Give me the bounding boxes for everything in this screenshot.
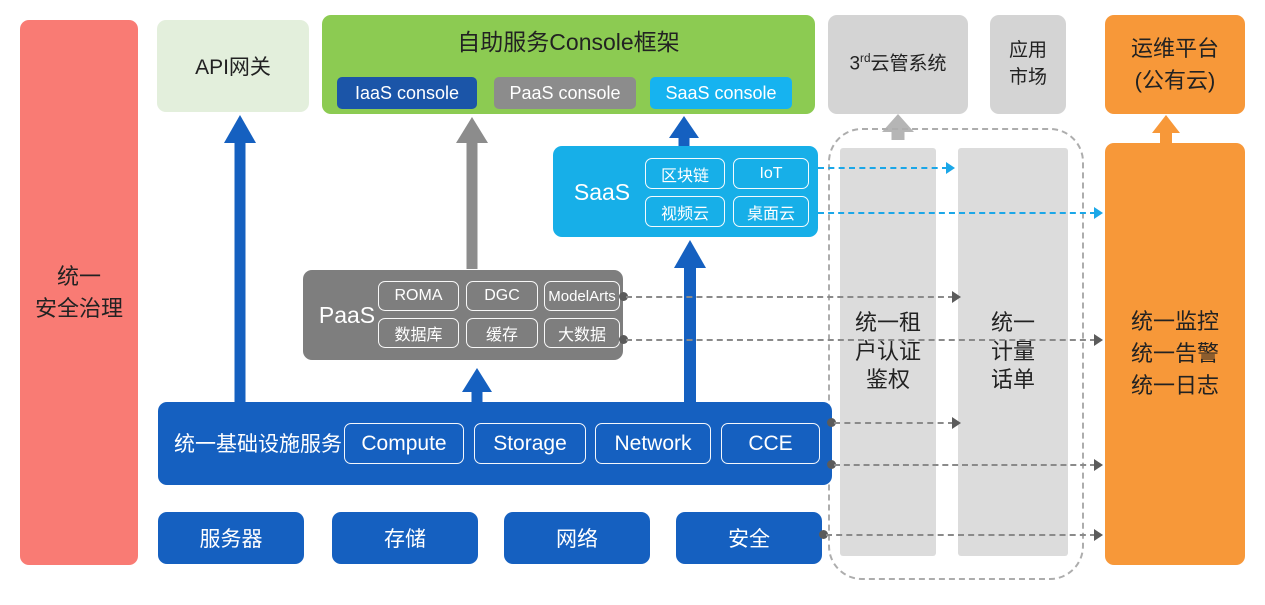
metering-line-2: 计量 xyxy=(991,338,1035,367)
third-party-cloud-mgmt-label: 3rd云管系统 xyxy=(849,51,946,78)
resource-box-server[interactable]: 服务器 xyxy=(158,512,304,564)
infra-item-compute[interactable]: Compute xyxy=(344,423,464,464)
connector-paas-bottom-arrowhead xyxy=(1094,334,1103,346)
connector-infra-bottom-to-ops-center xyxy=(834,464,1096,466)
connector-saas-to-ops-center xyxy=(818,212,1096,214)
tenant-auth-line-3: 鉴权 xyxy=(855,366,921,395)
arrow-infra-to-saas xyxy=(674,240,706,405)
ops-platform-label: 运维平台 (公有云) xyxy=(1131,33,1219,97)
app-market-label: 应用 市场 xyxy=(1009,38,1047,91)
app-market-box[interactable]: 应用 市场 xyxy=(990,15,1066,114)
tenant-auth-line-1: 统一租 xyxy=(855,309,921,338)
paas-item-dgc-label: DGC xyxy=(484,287,520,305)
arrow-paas-to-console xyxy=(456,117,488,269)
resource-box-server-label: 服务器 xyxy=(200,523,263,553)
ops-platform-line-2: (公有云) xyxy=(1131,65,1219,97)
ops-center-box[interactable]: 统一监控 统一告警 统一日志 xyxy=(1105,143,1245,565)
iaas-console-label: IaaS console xyxy=(355,83,459,104)
saas-item-video-cloud-label: 视频云 xyxy=(661,200,709,224)
ops-platform-line-1: 运维平台 xyxy=(1131,33,1219,65)
arrow-infra-to-api-gateway xyxy=(224,115,256,405)
ops-center-line-3: 统一日志 xyxy=(1131,370,1219,402)
security-line-2: 安全治理 xyxy=(35,293,123,325)
console-framework-title: 自助服务Console框架 xyxy=(322,23,815,57)
saas-console-label: SaaS console xyxy=(665,83,776,104)
arrow-infra-to-paas xyxy=(462,368,492,406)
resource-box-security-label: 安全 xyxy=(728,523,770,553)
resource-box-network[interactable]: 网络 xyxy=(504,512,650,564)
ops-platform-box[interactable]: 运维平台 (公有云) xyxy=(1105,15,1245,114)
resource-box-network-label: 网络 xyxy=(556,523,598,553)
ops-center-line-1: 统一监控 xyxy=(1131,306,1219,338)
connector-saas-to-ops-center-arrowhead xyxy=(1094,207,1103,219)
saas-item-iot-label: IoT xyxy=(759,165,782,183)
metering-line-1: 统一 xyxy=(991,309,1035,338)
paas-panel[interactable]: PaaS ROMA DGC ModelArts 数据库 缓存 大数据 xyxy=(303,270,623,360)
paas-item-cache-label: 缓存 xyxy=(486,321,518,345)
resource-box-security[interactable]: 安全 xyxy=(676,512,822,564)
unified-tenant-auth-column[interactable]: 统一租 户认证 鉴权 xyxy=(840,148,936,556)
connector-infra-bottom-arrowhead xyxy=(1094,459,1103,471)
app-market-line-2: 市场 xyxy=(1009,65,1047,92)
saas-item-desktop-cloud-label: 桌面云 xyxy=(747,200,795,224)
unified-metering-billing-column[interactable]: 统一 计量 话单 xyxy=(958,148,1068,556)
tenant-auth-line-2: 户认证 xyxy=(855,338,921,367)
app-market-line-1: 应用 xyxy=(1009,38,1047,65)
third-party-prefix: 3 xyxy=(849,53,860,74)
saas-item-desktop-cloud[interactable]: 桌面云 xyxy=(733,196,809,227)
paas-item-database[interactable]: 数据库 xyxy=(378,318,459,348)
connector-saas-to-tenant-auth xyxy=(818,167,948,169)
infra-item-storage-label: Storage xyxy=(493,432,567,456)
paas-item-modelarts[interactable]: ModelArts xyxy=(544,281,620,311)
connector-paas-top-arrowhead xyxy=(952,291,961,303)
paas-item-roma[interactable]: ROMA xyxy=(378,281,459,311)
paas-console-chip[interactable]: PaaS console xyxy=(494,77,636,109)
connector-saas-to-tenant-auth-arrowhead xyxy=(946,162,955,174)
infra-item-cce-label: CCE xyxy=(748,432,792,456)
infra-item-network-label: Network xyxy=(614,432,691,456)
security-governance-panel[interactable]: 统一 安全治理 xyxy=(20,20,138,565)
connector-paas-top-to-metering xyxy=(626,296,954,298)
resource-box-storage-label: 存储 xyxy=(384,523,426,553)
connector-infra-top-to-metering xyxy=(834,422,954,424)
metering-line-3: 话单 xyxy=(991,366,1035,395)
api-gateway-box[interactable]: API网关 xyxy=(157,20,309,112)
third-party-ordinal-suffix: rd xyxy=(860,52,870,65)
connector-resources-to-ops-center xyxy=(826,534,1096,536)
connector-infra-top-arrowhead xyxy=(952,417,961,429)
paas-panel-label: PaaS xyxy=(311,297,383,333)
paas-item-database-label: 数据库 xyxy=(394,321,442,345)
console-framework-panel[interactable]: 自助服务Console框架 IaaS console PaaS console … xyxy=(322,15,815,114)
infra-item-compute-label: Compute xyxy=(361,432,446,456)
paas-item-cache[interactable]: 缓存 xyxy=(466,318,538,348)
third-party-suffix: 云管系统 xyxy=(871,53,947,74)
connector-paas-bottom-to-ops-center xyxy=(626,339,1096,341)
paas-item-roma-label: ROMA xyxy=(395,287,443,305)
third-party-cloud-mgmt-box[interactable]: 3rd云管系统 xyxy=(828,15,968,114)
api-gateway-label: API网关 xyxy=(195,51,271,81)
infra-item-storage[interactable]: Storage xyxy=(474,423,586,464)
unified-metering-billing-label: 统一 计量 话单 xyxy=(991,309,1035,395)
connector-resources-arrowhead xyxy=(1094,529,1103,541)
resource-box-storage[interactable]: 存储 xyxy=(332,512,478,564)
saas-item-blockchain-label: 区块链 xyxy=(661,162,709,186)
arrow-to-ops-platform xyxy=(1152,115,1180,143)
iaas-console-chip[interactable]: IaaS console xyxy=(337,77,477,109)
unified-infrastructure-panel[interactable]: 统一基础设施服务 Compute Storage Network CCE xyxy=(158,402,832,485)
saas-panel-label: SaaS xyxy=(563,174,641,210)
saas-item-blockchain[interactable]: 区块链 xyxy=(645,158,725,189)
paas-item-dgc[interactable]: DGC xyxy=(466,281,538,311)
infra-item-cce[interactable]: CCE xyxy=(721,423,820,464)
saas-panel[interactable]: SaaS 区块链 IoT 视频云 桌面云 xyxy=(553,146,818,237)
security-governance-label: 统一 安全治理 xyxy=(35,261,123,325)
arrow-saas-to-console xyxy=(669,116,699,150)
saas-item-iot[interactable]: IoT xyxy=(733,158,809,189)
paas-item-bigdata[interactable]: 大数据 xyxy=(544,318,620,348)
unified-infrastructure-label: 统一基础设施服务 xyxy=(172,426,344,460)
unified-tenant-auth-label: 统一租 户认证 鉴权 xyxy=(855,309,921,395)
paas-console-label: PaaS console xyxy=(509,83,620,104)
saas-item-video-cloud[interactable]: 视频云 xyxy=(645,196,725,227)
saas-console-chip[interactable]: SaaS console xyxy=(650,77,792,109)
infra-item-network[interactable]: Network xyxy=(595,423,711,464)
security-line-1: 统一 xyxy=(35,261,123,293)
ops-center-label: 统一监控 统一告警 统一日志 xyxy=(1131,306,1219,402)
paas-item-bigdata-label: 大数据 xyxy=(558,321,606,345)
paas-item-modelarts-label: ModelArts xyxy=(548,288,616,305)
ops-center-line-2: 统一告警 xyxy=(1131,338,1219,370)
